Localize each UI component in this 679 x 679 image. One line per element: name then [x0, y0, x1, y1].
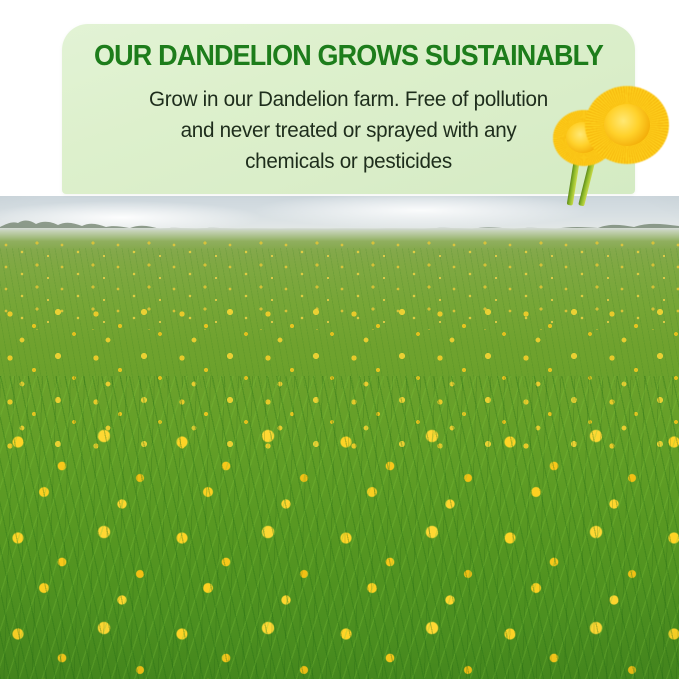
dandelion-center-large	[604, 104, 650, 146]
product-infographic: OUR DANDELION GROWS SUSTAINABLY Grow in …	[0, 0, 679, 679]
dandelion-cutout-graphic	[545, 82, 679, 207]
banner-description-line-2: and never treated or sprayed with any	[91, 115, 607, 146]
dandelion-flower-large	[585, 86, 669, 164]
banner-description-line-3: chemicals or pesticides	[91, 146, 607, 177]
dandelion-field-photo	[0, 196, 679, 679]
banner-headline: OUR DANDELION GROWS SUSTAINABLY	[82, 40, 615, 73]
photo-vignette	[0, 196, 679, 679]
banner-description-line-1: Grow in our Dandelion farm. Free of poll…	[91, 84, 607, 115]
banner-description: Grow in our Dandelion farm. Free of poll…	[91, 84, 607, 177]
